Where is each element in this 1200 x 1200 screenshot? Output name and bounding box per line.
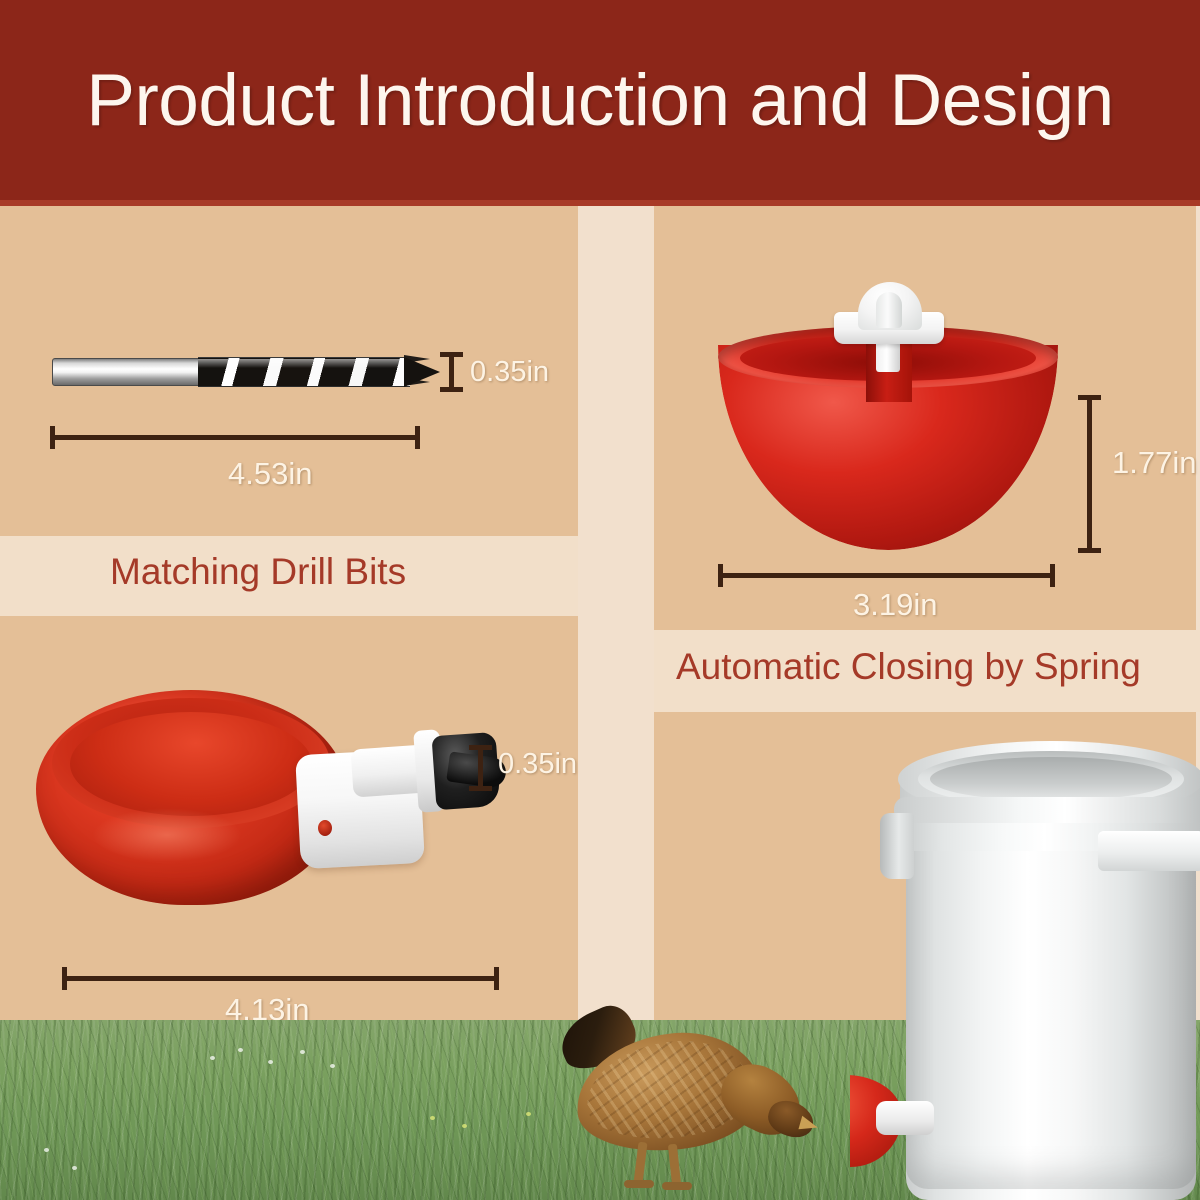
cup-valve-red-dot <box>318 820 332 836</box>
drill-bit-illustration <box>52 352 440 392</box>
dimension-line-bowl-height <box>1087 395 1092 553</box>
dimension-line-drill-length <box>50 435 420 440</box>
cup-highlight <box>92 808 242 862</box>
dimension-label-bowl-height: 1.77in <box>1112 447 1196 478</box>
drill-brad-point-tip <box>404 357 440 387</box>
caption-automatic-closing: Automatic Closing by Spring <box>676 648 1141 685</box>
bucket-handle-tab <box>1098 831 1200 871</box>
dimension-label-drill-length: 4.53in <box>228 458 312 489</box>
bucket-opening <box>930 757 1172 801</box>
dimension-label-drill-diameter: 0.35in <box>470 358 549 387</box>
chicken-illustration <box>562 1006 862 1200</box>
page-title: Product Introduction and Design <box>0 0 1200 200</box>
dimension-line-cup-width <box>62 976 499 981</box>
infographic-root: Product Introduction and Design 0.35in 4… <box>0 0 1200 1200</box>
drill-flute <box>198 357 410 387</box>
bowl-valve-dome-core <box>876 292 902 328</box>
drill-shank <box>52 358 204 386</box>
water-bowl-top-valve-illustration <box>718 290 1058 555</box>
installed-cup-nozzle <box>876 1101 934 1135</box>
bucket-illustration <box>850 735 1200 1200</box>
grass-flower <box>238 1048 243 1052</box>
dimension-label-bowl-width: 3.19in <box>853 589 937 620</box>
grass-flower <box>330 1064 335 1068</box>
cup-valve-wing-nut <box>431 732 500 810</box>
dimension-line-cup-thread <box>478 745 483 791</box>
chicken-foot <box>624 1180 654 1188</box>
chicken-foot <box>662 1182 692 1190</box>
cup-inner-cavity <box>70 712 312 816</box>
water-cup-side-valve-illustration <box>36 690 506 920</box>
dimension-line-drill-diameter <box>449 352 454 392</box>
caption-drill-bits: Matching Drill Bits <box>110 553 406 590</box>
grass-flower <box>44 1148 49 1152</box>
grass-flower <box>268 1060 273 1064</box>
bucket-lip <box>894 797 1200 823</box>
grass-flower <box>300 1050 305 1054</box>
grass-flower-yellow <box>526 1112 531 1116</box>
installed-water-cup <box>850 1075 928 1171</box>
dimension-label-cup-thread: 0.35in <box>498 750 577 779</box>
grass-flower <box>72 1166 77 1170</box>
bucket-handle-ear <box>880 813 914 879</box>
dimension-line-bowl-width <box>718 573 1055 578</box>
chicken-leg <box>668 1144 681 1187</box>
grass-flower-yellow <box>462 1124 467 1128</box>
grass-flower-yellow <box>430 1116 435 1120</box>
grass-flower <box>210 1056 215 1060</box>
